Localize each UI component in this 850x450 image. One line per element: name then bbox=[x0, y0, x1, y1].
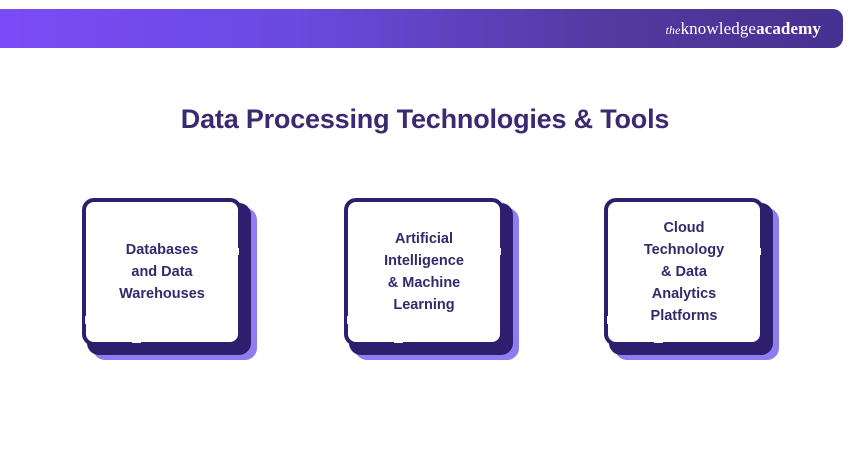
card-notch-bottom bbox=[394, 337, 403, 343]
brand-academy-text: academy bbox=[756, 19, 821, 38]
card-item[interactable]: Artificial Intelligence & Machine Learni… bbox=[344, 198, 511, 361]
card-label: Databases and Data Warehouses bbox=[105, 239, 219, 306]
card-face: Databases and Data Warehouses bbox=[82, 198, 242, 346]
cards-row: Databases and Data Warehouses Artificial… bbox=[0, 198, 850, 368]
card-item[interactable]: Cloud Technology & Data Analytics Platfo… bbox=[604, 198, 771, 361]
card-notch-right bbox=[755, 248, 761, 255]
card-label: Cloud Technology & Data Analytics Platfo… bbox=[630, 217, 738, 328]
brand-the-text: the bbox=[666, 23, 681, 37]
card-face: Artificial Intelligence & Machine Learni… bbox=[344, 198, 504, 346]
header-bar: theknowledgeacademy bbox=[0, 9, 843, 48]
card-notch-left bbox=[607, 316, 613, 324]
card-notch-left bbox=[85, 316, 91, 324]
brand-logo: theknowledgeacademy bbox=[666, 20, 821, 37]
card-item[interactable]: Databases and Data Warehouses bbox=[82, 198, 249, 361]
card-notch-bottom bbox=[654, 337, 663, 343]
card-notch-left bbox=[347, 316, 353, 324]
card-notch-right bbox=[233, 248, 239, 255]
card-face: Cloud Technology & Data Analytics Platfo… bbox=[604, 198, 764, 346]
brand-knowledge-text: knowledge bbox=[681, 19, 757, 38]
card-notch-bottom bbox=[132, 337, 141, 343]
card-notch-right bbox=[495, 248, 501, 255]
card-label: Artificial Intelligence & Machine Learni… bbox=[370, 228, 478, 317]
page-title: Data Processing Technologies & Tools bbox=[0, 104, 850, 135]
